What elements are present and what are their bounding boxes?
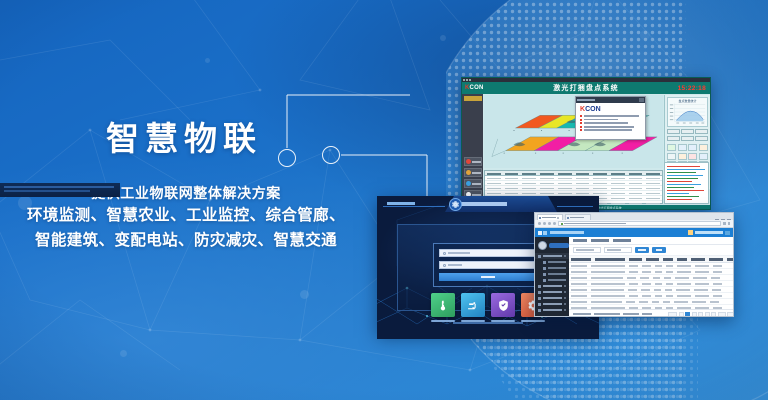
- chevron-right-icon: [564, 291, 566, 293]
- page-1[interactable]: [685, 312, 690, 317]
- status-select[interactable]: [604, 247, 632, 253]
- user-icon: [443, 252, 446, 255]
- address-bar[interactable]: [558, 221, 721, 226]
- page-3[interactable]: [698, 312, 703, 317]
- lock-icon: [443, 264, 446, 267]
- username-placeholder: [448, 252, 470, 254]
- pagination-controls: [668, 312, 734, 317]
- app-title: [550, 231, 584, 234]
- report-icon: [538, 297, 541, 300]
- laser-sidebar: [462, 94, 483, 210]
- laser-tool-icon[interactable]: [667, 153, 676, 160]
- pagination-bar: [569, 309, 734, 317]
- laser-title: 激光打捆盘点系统: [462, 83, 710, 93]
- pager-summary: [594, 313, 620, 315]
- laser-about-dialog[interactable]: KCON: [575, 96, 646, 140]
- laser-clock: 15:22:18: [678, 85, 706, 92]
- laser-button-row: [667, 129, 708, 134]
- page-5[interactable]: [711, 312, 716, 317]
- laser-statistics-chart: 盘点数量统计: [667, 97, 708, 127]
- laser-header-bar: KCON 激光打捆盘点系统 15:22:18: [462, 82, 710, 94]
- close-icon[interactable]: [639, 98, 644, 102]
- laser-sidebar-button[interactable]: [464, 168, 482, 177]
- search-button[interactable]: [635, 247, 649, 253]
- column-header: [691, 258, 705, 261]
- laser-sidebar-spacer: [462, 101, 483, 156]
- browser-urlbar: [535, 220, 733, 228]
- menu-icon[interactable]: [728, 222, 731, 225]
- page-prev[interactable]: [679, 312, 684, 317]
- reload-icon[interactable]: [548, 222, 551, 225]
- ledge-line-1: [4, 186, 114, 188]
- laser-tool-icon[interactable]: [688, 153, 697, 160]
- login-form: [433, 243, 543, 287]
- app-header-right: [688, 230, 730, 235]
- browser-tabbar: [535, 213, 733, 220]
- dialog-title: [577, 99, 595, 101]
- column-header: [727, 258, 734, 261]
- dialog-titlebar: [576, 97, 645, 103]
- url-text: [564, 223, 626, 225]
- laser-tool-icon[interactable]: [699, 153, 708, 160]
- search-input[interactable]: [573, 247, 601, 253]
- dialog-info-line: [580, 126, 641, 128]
- favicon-icon: [567, 217, 569, 219]
- shield-icon: [497, 299, 510, 312]
- laser-system-screen: KCON 激光打捆盘点系统 15:22:18: [461, 77, 711, 210]
- breadcrumb-item: [613, 239, 631, 242]
- username-input[interactable]: [439, 249, 537, 257]
- user-label: [695, 231, 723, 234]
- login-monitor-base: [377, 333, 599, 339]
- app-header-bar: [535, 228, 733, 237]
- home-icon[interactable]: [553, 222, 556, 225]
- login-title-text: [461, 202, 507, 206]
- column-header: [595, 258, 625, 261]
- pager-summary: [573, 313, 591, 315]
- users-icon: [538, 309, 541, 312]
- browser-nav-buttons: [538, 222, 556, 225]
- dot-icon: [543, 279, 546, 282]
- chart-icon: [538, 291, 541, 294]
- hero-line-2: 环境监测、智慧农业、工业监控、综合管廊、: [0, 203, 372, 228]
- login-footer-text: [453, 322, 523, 325]
- laser-button-row: [667, 136, 708, 141]
- close-icon[interactable]: [557, 217, 559, 219]
- factory-icon: [538, 285, 541, 288]
- column-header: [571, 258, 591, 261]
- back-icon[interactable]: [538, 222, 541, 225]
- gear-icon: [538, 303, 541, 306]
- forward-icon[interactable]: [543, 222, 546, 225]
- table-header: [569, 256, 734, 263]
- laser-action-button[interactable]: [695, 129, 708, 134]
- sidebar-item-permissions[interactable]: [535, 307, 569, 313]
- thermometer-icon: [437, 299, 450, 312]
- app-sidebar: [535, 237, 569, 317]
- banner-root: 智慧物联 提供工业物联网整体解决方案 环境监测、智慧农业、工业监控、综合管廊、 …: [0, 0, 768, 400]
- sidebar-user-block: [535, 237, 569, 253]
- app-content: [569, 237, 734, 317]
- laser-action-button[interactable]: [681, 129, 694, 134]
- wrench-icon: [538, 255, 541, 258]
- laser-tool-icon[interactable]: [678, 144, 687, 151]
- laser-action-button[interactable]: [667, 136, 680, 141]
- favicon-icon: [539, 217, 541, 219]
- breadcrumb-item[interactable]: [591, 239, 609, 242]
- page-4[interactable]: [705, 312, 710, 317]
- maximize-icon[interactable]: [721, 219, 725, 220]
- login-submit-label: [481, 276, 495, 279]
- laser-tool-icon[interactable]: [688, 144, 697, 151]
- laser-sidebar-button[interactable]: [464, 157, 482, 166]
- management-browser-screen: [534, 212, 734, 317]
- gear-icon: [449, 198, 462, 211]
- column-header: [709, 258, 723, 261]
- laser-action-button[interactable]: [681, 136, 694, 141]
- ledge-line-2: [4, 190, 90, 192]
- password-input[interactable]: [439, 261, 537, 269]
- filter-bar: [569, 245, 734, 256]
- laser-action-button[interactable]: [667, 129, 680, 134]
- chevron-right-icon: [564, 303, 566, 305]
- breadcrumb: [569, 237, 734, 245]
- header-left-label: [387, 202, 415, 205]
- browser-tab-2[interactable]: [565, 214, 591, 220]
- page-title: 智慧物联: [106, 122, 262, 155]
- browser-toolbar-icons: [723, 222, 730, 225]
- hero-line-3: 智能建筑、变配电站、防灾减灾、智慧交通: [0, 228, 372, 253]
- chevron-right-icon: [564, 285, 566, 287]
- page-last[interactable]: [727, 312, 734, 317]
- page-2[interactable]: [692, 312, 697, 317]
- dialog-info-line: [580, 119, 641, 121]
- pager-summary: [623, 313, 639, 315]
- reset-button[interactable]: [652, 247, 666, 253]
- header-rule-left: [383, 206, 445, 207]
- dialog-logo: KCON: [580, 106, 645, 113]
- browser-tab-1[interactable]: [537, 214, 563, 220]
- logout-icon[interactable]: [725, 231, 730, 235]
- chevron-right-icon: [564, 309, 566, 311]
- page-size-select[interactable]: [668, 312, 677, 317]
- pager-summary: [642, 313, 652, 315]
- chevron-right-icon: [564, 297, 566, 299]
- header-rule-right: [557, 206, 593, 207]
- star-icon[interactable]: [723, 222, 726, 225]
- close-icon[interactable]: [727, 219, 731, 220]
- laser-chart-title: 盘点数量统计: [668, 99, 707, 103]
- column-header: [629, 258, 642, 261]
- dialog-logo-text: CON: [585, 106, 601, 113]
- minimize-icon[interactable]: [715, 219, 719, 220]
- dot-icon: [543, 261, 546, 264]
- laser-tool-icon[interactable]: [699, 144, 708, 151]
- faucet-icon: [467, 299, 480, 312]
- column-header: [663, 258, 673, 261]
- dialog-info-line: [580, 129, 641, 131]
- laser-tool-icon[interactable]: [678, 153, 687, 160]
- dot-icon: [543, 273, 546, 276]
- table-body: [569, 263, 734, 309]
- app-logo-icon: [538, 231, 547, 235]
- chevron-down-icon: [564, 255, 566, 257]
- window-controls: [715, 219, 731, 220]
- breadcrumb-item[interactable]: [573, 239, 587, 242]
- password-placeholder: [448, 264, 462, 266]
- window-dots-icon: [463, 79, 471, 81]
- user-role-badge: [549, 243, 569, 248]
- lock-icon: [561, 223, 563, 225]
- laser-log-panel: [664, 162, 709, 204]
- app-body: [535, 237, 733, 317]
- dot-icon: [543, 267, 546, 270]
- laser-action-button[interactable]: [695, 136, 708, 141]
- laser-sidebar-button[interactable]: [464, 179, 482, 188]
- dialog-info-line: [580, 122, 641, 124]
- avatar[interactable]: [688, 230, 693, 235]
- page-next[interactable]: [718, 312, 726, 317]
- column-header: [677, 258, 687, 261]
- login-submit-button[interactable]: [439, 273, 537, 281]
- laser-tool-icon[interactable]: [667, 144, 676, 151]
- dialog-info-line: [580, 115, 641, 117]
- column-header: [646, 258, 659, 261]
- avatar: [538, 241, 547, 250]
